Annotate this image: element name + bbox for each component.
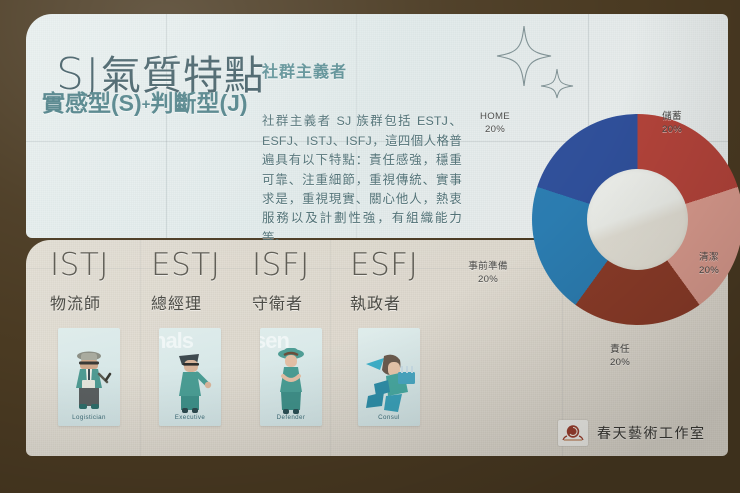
type-caption-istj: Logistician <box>58 414 120 421</box>
snail-logo-icon <box>561 423 585 443</box>
subtitle-part-a: 實感型(S) <box>42 90 142 116</box>
type-illustration-isfj: sen Defender <box>260 328 322 426</box>
sparkle-group-icon <box>494 22 580 100</box>
chart-label-responsibility: 責任 20% <box>583 343 657 369</box>
section-heading: 社群主義者 <box>262 58 347 82</box>
type-caption-esfj: Consul <box>358 414 420 421</box>
chart-label-home-value: 20% <box>458 123 532 136</box>
type-name-isfj: 守衛者 <box>252 290 352 314</box>
subtitle-part-b: 判斷型(J) <box>150 90 247 116</box>
type-code-estj: ESTJ <box>151 250 251 281</box>
chart-label-savings-value: 20% <box>635 123 709 136</box>
donut-chart: HOME 20% 儲蓄 20% 清潔 20% 責任 20% 事前準備 20% <box>455 96 740 346</box>
defender-figure-icon <box>260 340 322 420</box>
type-code-isfj: ISFJ <box>252 250 352 281</box>
intro-paragraph: 社群主義者 SJ 族群包括 ESTJ、ESFJ、ISTJ、ISFJ，這四個人格普… <box>262 112 462 248</box>
type-code-esfj: ESFJ <box>350 250 450 281</box>
chart-label-savings-name: 儲蓄 <box>662 111 682 122</box>
type-illustration-estj: nals Executive <box>159 328 221 426</box>
studio-name: 春天藝術工作室 <box>597 423 706 443</box>
footer-branding: 春天藝術工作室 <box>558 416 718 450</box>
chart-label-cleaning: 清潔 20% <box>699 251 740 277</box>
sparkle-decoration <box>494 22 580 100</box>
chart-label-home-name: HOME <box>480 111 510 122</box>
type-name-estj: 總經理 <box>151 290 251 314</box>
studio-logo <box>558 420 588 446</box>
consul-figure-icon <box>358 340 420 420</box>
type-illustration-istj: Logistician <box>58 328 120 426</box>
logistician-figure-icon <box>58 340 120 420</box>
type-caption-isfj: Defender <box>260 414 322 421</box>
four-point-star-large-icon <box>497 26 551 86</box>
type-name-istj: 物流師 <box>50 290 150 314</box>
donut-center-hole <box>587 169 688 270</box>
page-subtitle: 實感型(S)+判斷型(J) <box>42 92 248 115</box>
type-card-estj[interactable]: ESTJ 總經理 nals Executive <box>151 250 251 314</box>
chart-label-responsibility-name: 責任 <box>610 344 630 355</box>
chart-label-savings: 儲蓄 20% <box>635 110 709 136</box>
executive-figure-icon <box>159 340 221 420</box>
type-card-isfj[interactable]: ISFJ 守衛者 sen Defender <box>252 250 352 314</box>
personality-type-list: ISTJ 物流師 Logistici <box>50 250 480 450</box>
slide-photo-frame: SJ氣質特點 實感型(S)+判斷型(J) 社群主義者 社群主義者 SJ 族群包括… <box>0 0 740 493</box>
type-code-istj: ISTJ <box>50 250 150 281</box>
type-name-esfj: 執政者 <box>350 290 450 314</box>
chart-label-cleaning-name: 清潔 <box>699 252 719 263</box>
type-caption-estj: Executive <box>159 414 221 421</box>
chart-label-cleaning-value: 20% <box>699 264 740 277</box>
type-illustration-esfj: Consul <box>358 328 420 426</box>
four-point-star-small-icon <box>541 69 573 98</box>
type-card-istj[interactable]: ISTJ 物流師 Logistici <box>50 250 150 314</box>
chart-label-home: HOME 20% <box>458 110 532 136</box>
type-card-esfj[interactable]: ESFJ 執政者 Consul <box>350 250 450 314</box>
chart-label-responsibility-value: 20% <box>583 356 657 369</box>
